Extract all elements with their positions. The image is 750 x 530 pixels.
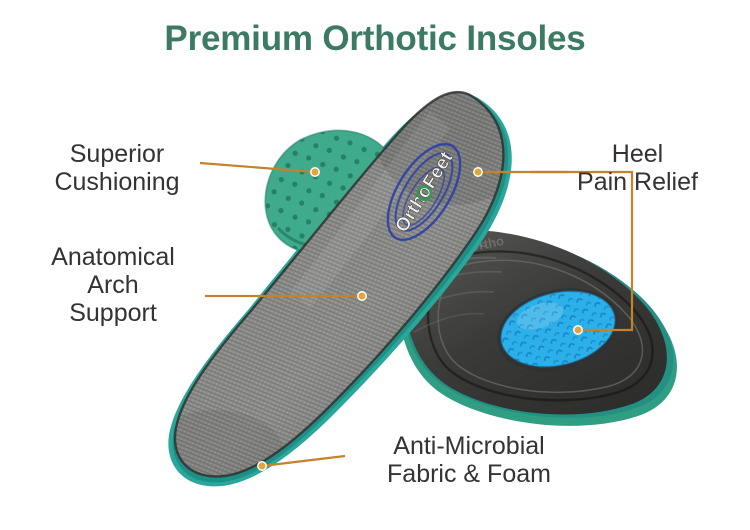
feature-label-heel: Heel Pain Relief [530, 140, 745, 196]
leader-arch [205, 292, 366, 300]
leader-fabric [258, 456, 345, 470]
leader-cushioning [200, 163, 319, 176]
feature-label-cushioning: Superior Cushioning [22, 140, 212, 196]
feature-label-arch: Anatomical Arch Support [14, 243, 212, 327]
infographic-canvas: Premium Orthotic Insoles [0, 0, 750, 530]
feature-label-fabric: Anti-Microbial Fabric & Foam [345, 432, 593, 488]
